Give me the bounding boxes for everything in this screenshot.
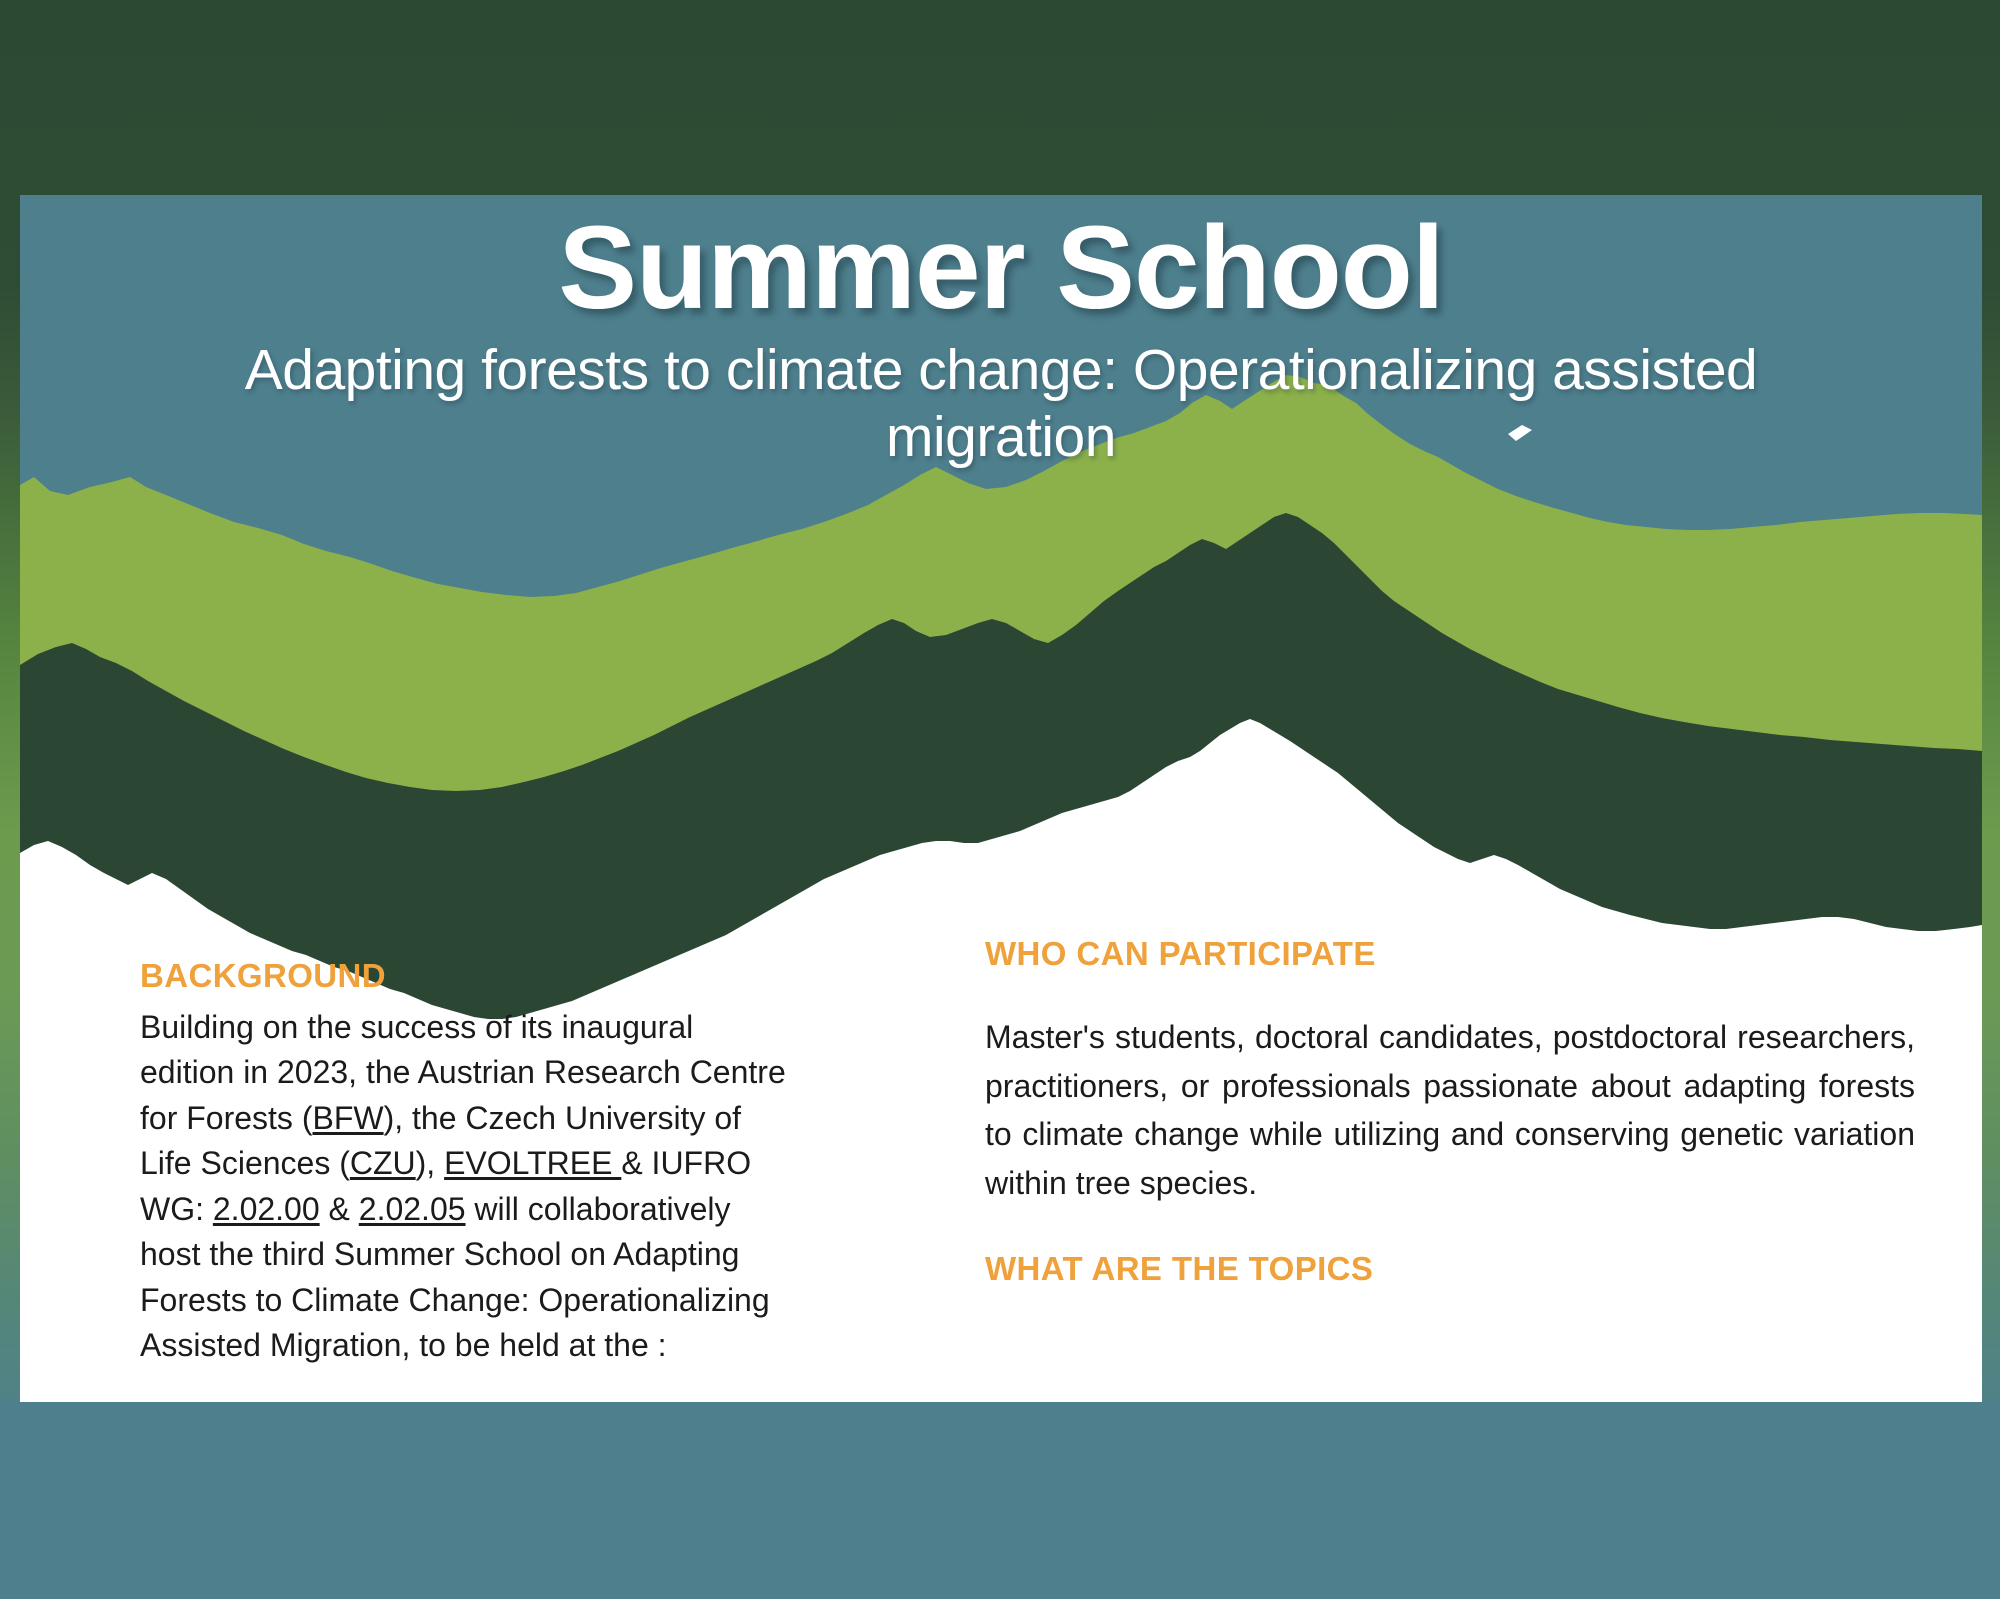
poster-stage: Summer School Adapting forests to climat… (0, 0, 2000, 1599)
slide-card: Summer School Adapting forests to climat… (20, 195, 1982, 1402)
section-body-background: Building on the success of its inaugural… (140, 995, 790, 1369)
link-iufro-wg-2-02-05[interactable]: 2.02.05 (359, 1191, 466, 1227)
column-right: WHO CAN PARTICIPATE Master's students, d… (985, 935, 1915, 1288)
section-heading-background: BACKGROUND (140, 935, 790, 995)
link-evoltree[interactable]: EVOLTREE (444, 1145, 621, 1181)
section-heading-who-can-participate: WHO CAN PARTICIPATE (985, 935, 1915, 973)
content-columns: BACKGROUND Building on the success of it… (20, 935, 1982, 1402)
column-left: BACKGROUND Building on the success of it… (140, 935, 790, 1369)
bg-text-part-3: ), (416, 1145, 444, 1181)
bottom-teal-band (0, 1402, 2000, 1599)
link-iufro-wg-2-02-00[interactable]: 2.02.00 (213, 1191, 320, 1227)
section-body-who-can-participate: Master's students, doctoral candidates, … (985, 973, 1915, 1208)
white-peak-flick (1508, 425, 1532, 441)
link-bfw[interactable]: BFW (312, 1100, 383, 1136)
section-heading-what-are-the-topics: WHAT ARE THE TOPICS (985, 1208, 1915, 1288)
bg-text-part-5: & (320, 1191, 359, 1227)
link-czu[interactable]: CZU (350, 1145, 416, 1181)
